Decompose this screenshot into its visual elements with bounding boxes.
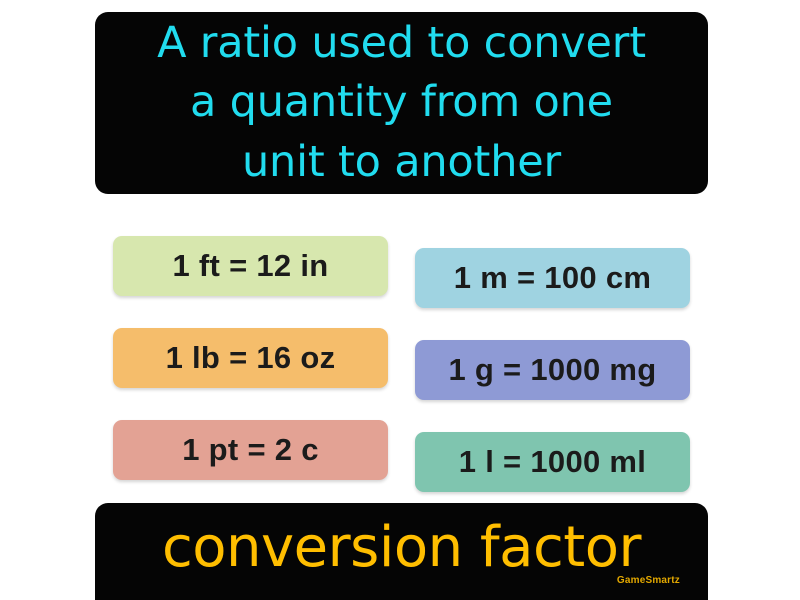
example-chip: 1 pt = 2 c: [113, 420, 388, 480]
definition-banner: A ratio used to convert a quantity from …: [95, 12, 708, 194]
flashcard: A ratio used to convert a quantity from …: [0, 0, 800, 600]
example-chip: 1 g = 1000 mg: [415, 340, 690, 400]
example-chip: 1 ft = 12 in: [113, 236, 388, 296]
example-chip: 1 m = 100 cm: [415, 248, 690, 308]
examples-grid: 1 ft = 12 in1 m = 100 cm1 lb = 16 oz1 g …: [113, 236, 690, 492]
term-text: conversion factor: [162, 520, 641, 576]
example-chip-label: 1 pt = 2 c: [182, 432, 319, 468]
example-chip-label: 1 ft = 12 in: [172, 248, 328, 284]
example-chip-label: 1 l = 1000 ml: [459, 444, 646, 480]
example-chip: 1 l = 1000 ml: [415, 432, 690, 492]
example-chip: 1 lb = 16 oz: [113, 328, 388, 388]
term-banner: conversion factor GameSmartz: [95, 503, 708, 600]
watermark-logo: GameSmartz: [617, 575, 680, 586]
example-chip-label: 1 m = 100 cm: [454, 260, 652, 296]
example-chip-label: 1 lb = 16 oz: [166, 340, 336, 376]
definition-text: A ratio used to convert a quantity from …: [157, 14, 646, 192]
example-chip-label: 1 g = 1000 mg: [448, 352, 656, 388]
